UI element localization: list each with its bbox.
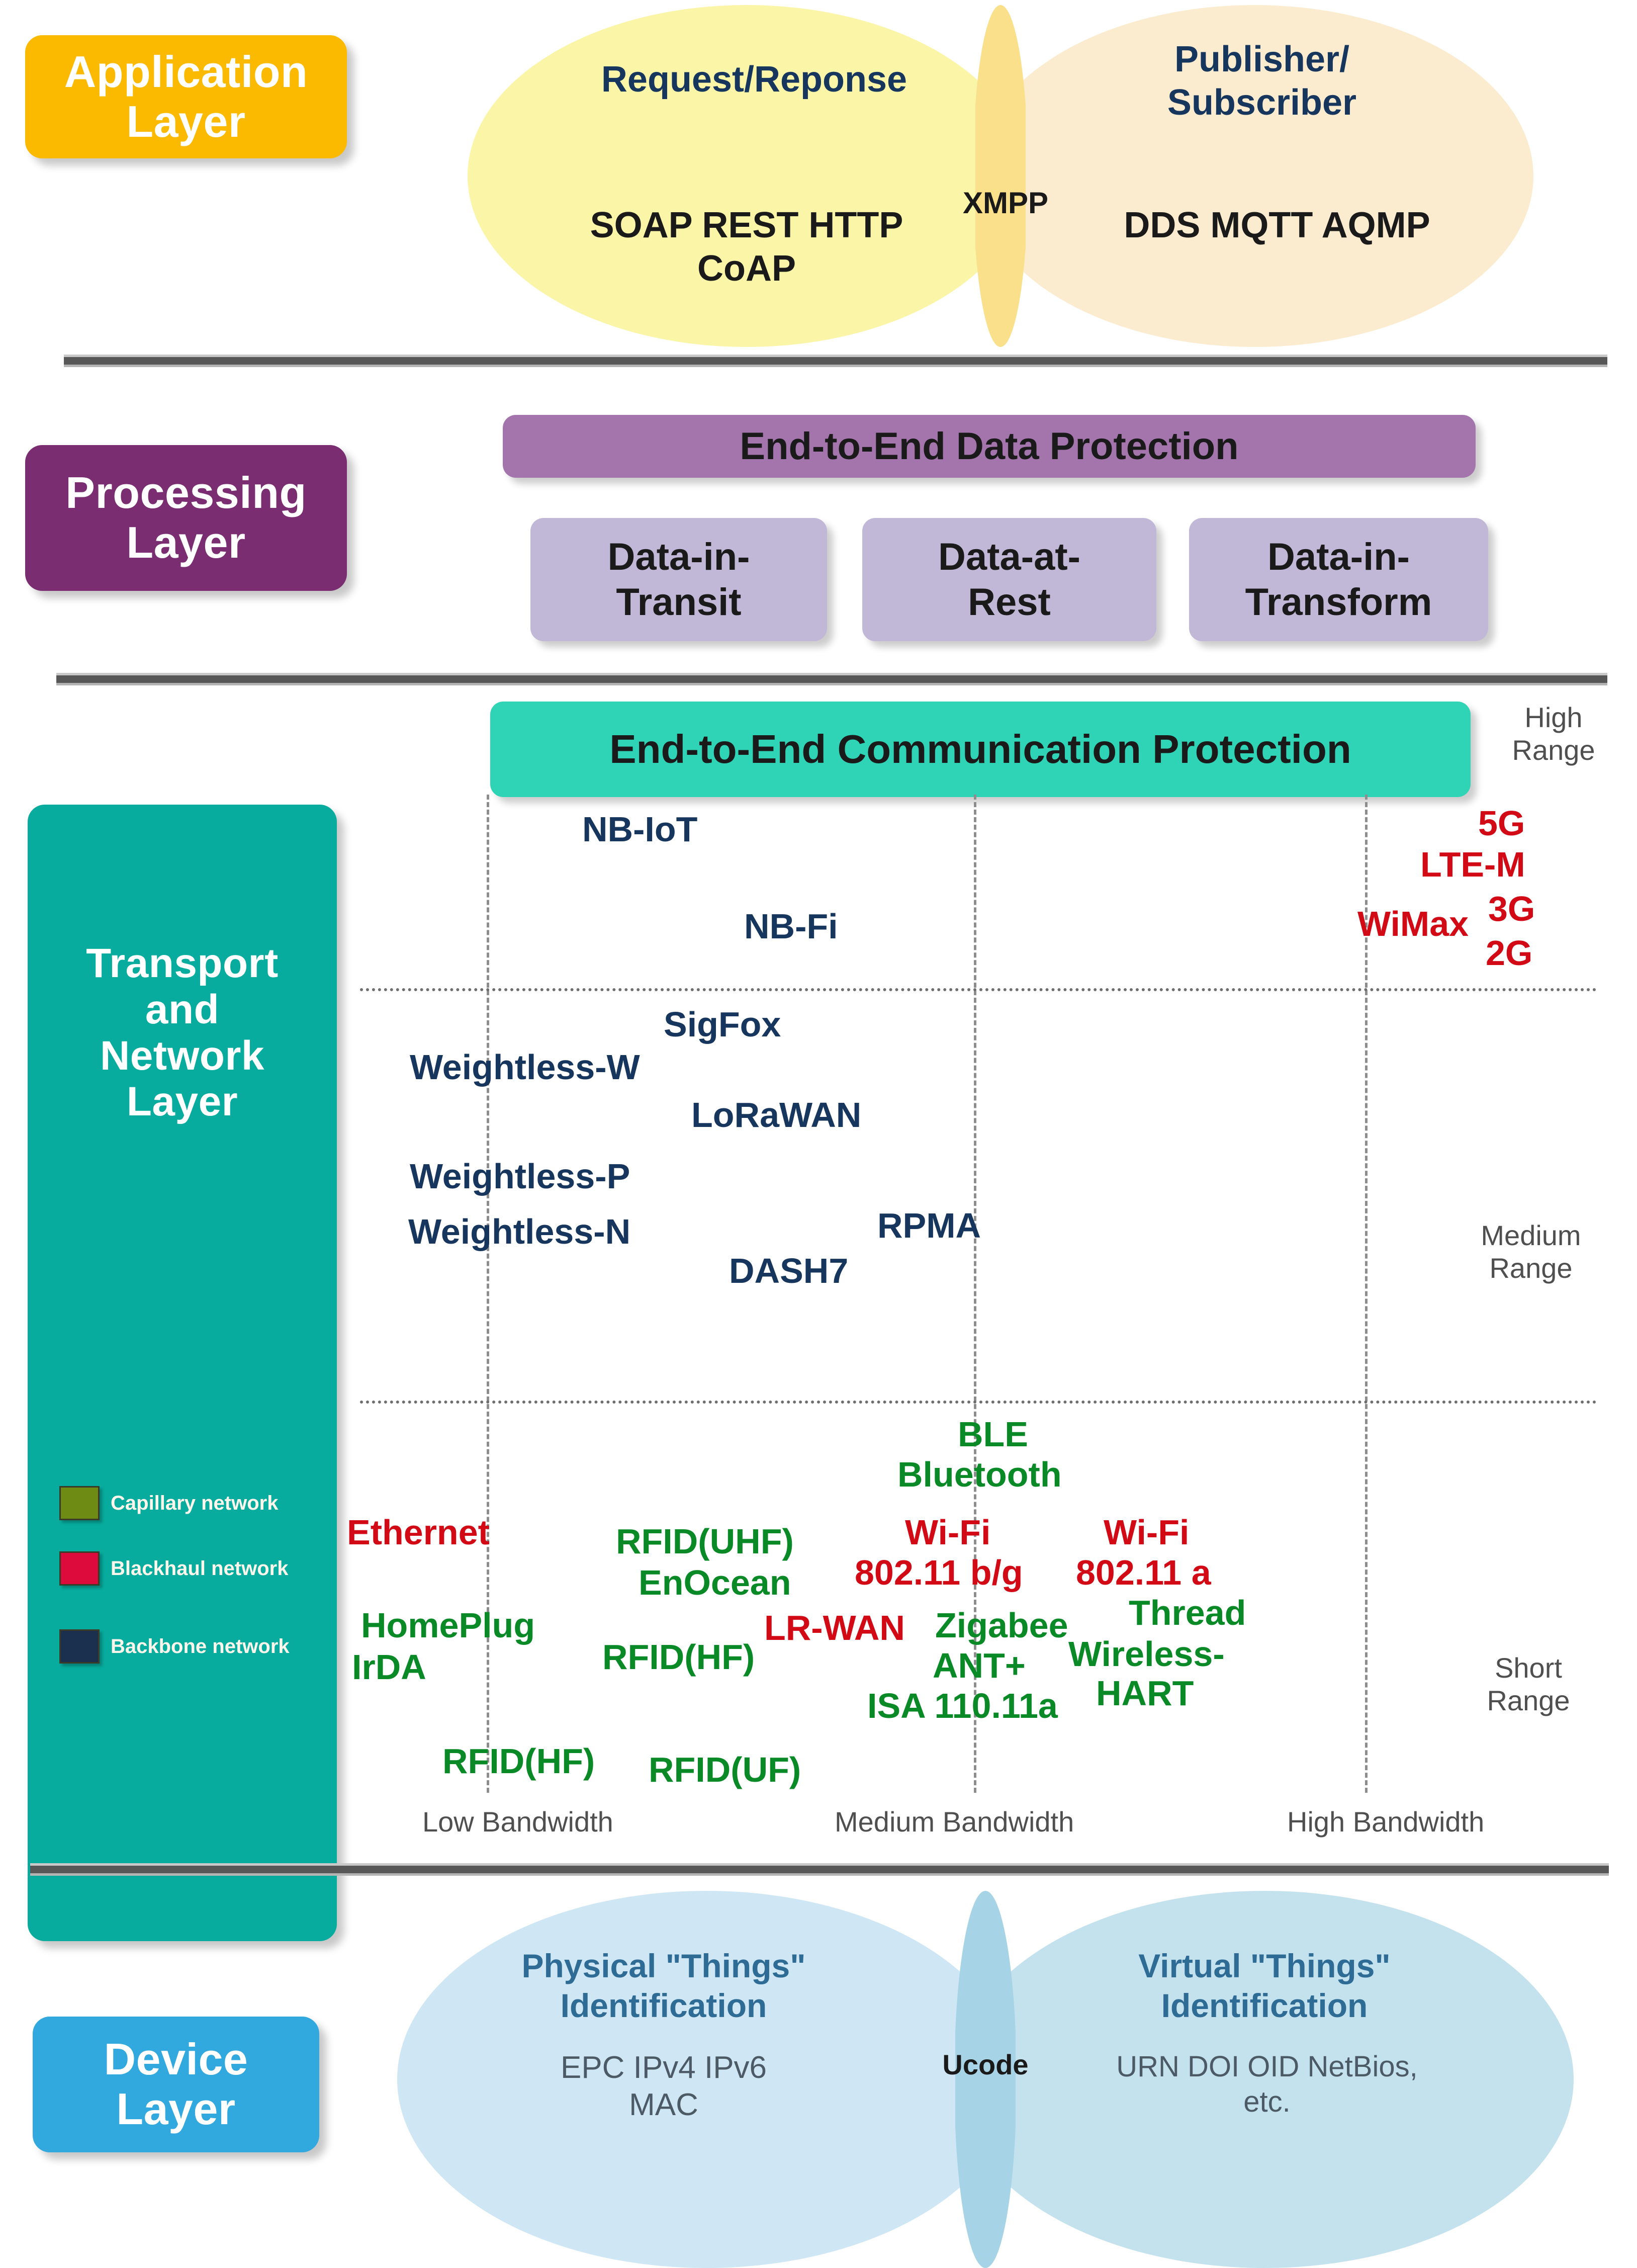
application-publisher-subscriber-items: DDS MQTT AQMP (1051, 204, 1503, 247)
application-xmpp-label: XMPP (948, 185, 1063, 221)
protocol-wifi-bg-standard: 802.11 b/g (855, 1554, 1023, 1591)
axis-label-medium-bandwidth: Medium Bandwidth (835, 1805, 1074, 1838)
application-venn-overlap-region (975, 5, 1026, 347)
application-request-response-title: Request/Reponse (528, 58, 980, 101)
protocol-irda: IrDA (352, 1648, 426, 1686)
protocol-weightless-p: Weightless-P (410, 1158, 630, 1195)
protocol-rfid-uf: RFID(UF) (649, 1751, 801, 1788)
legend-label-capillary: Capillary network (111, 1492, 278, 1515)
transport-network-layer-chip: Transport and Network Layer (28, 805, 337, 1941)
axis-label-high-bandwidth: High Bandwidth (1287, 1805, 1484, 1838)
legend-swatch-capillary (59, 1486, 100, 1520)
range-label-medium: Medium Range (1448, 1219, 1614, 1285)
separator-transport-device (30, 1863, 1609, 1876)
legend-row-capillary: Capillary network (59, 1486, 278, 1520)
legend-row-blackhaul: Blackhaul network (59, 1551, 288, 1586)
protocol-5g: 5G (1478, 805, 1525, 842)
data-in-transform-box: Data-in- Transform (1189, 518, 1488, 641)
legend-label-backbone: Backbone network (111, 1635, 290, 1658)
data-in-transit-box: Data-in- Transit (530, 518, 827, 641)
end-to-end-data-protection-banner: End-to-End Data Protection (503, 415, 1476, 478)
legend-label-blackhaul: Blackhaul network (111, 1557, 288, 1580)
end-to-end-communication-protection-banner: End-to-End Communication Protection (490, 702, 1471, 797)
iot-architecture-diagram: Application Layer Request/Reponse SOAP R… (0, 0, 1637, 2268)
protocol-homeplug: HomePlug (361, 1607, 535, 1644)
device-ucode-label: Ucode (923, 2048, 1048, 2081)
protocol-dash7: DASH7 (729, 1252, 848, 1289)
application-layer-chip: Application Layer (25, 35, 347, 158)
protocol-wimax: WiMax (1357, 905, 1469, 942)
protocol-wifi-a-standard: 802.11 a (1076, 1554, 1211, 1591)
axis-label-low-bandwidth: Low Bandwidth (422, 1805, 613, 1838)
protocol-hart: HART (1096, 1675, 1194, 1712)
protocol-lr-wan: LR-WAN (764, 1609, 905, 1646)
protocol-lte-m: LTE-M (1420, 846, 1525, 883)
protocol-3g: 3G (1488, 890, 1535, 927)
protocol-ble: BLE (958, 1416, 1028, 1453)
protocol-rpma: RPMA (877, 1207, 981, 1244)
protocol-nb-iot: NB-IoT (582, 811, 697, 848)
device-physical-things-items: EPC IPv4 IPv6 MAC (442, 2049, 885, 2124)
protocol-rfid-hf-bottom: RFID(HF) (442, 1742, 595, 1780)
protocol-ant-plus: ANT+ (933, 1647, 1026, 1684)
protocol-thread: Thread (1129, 1594, 1246, 1631)
protocol-ethernet: Ethernet (347, 1514, 490, 1551)
protocol-bluetooth: Bluetooth (897, 1456, 1062, 1493)
protocol-enocean: EnOcean (639, 1564, 791, 1601)
grid-vline-3 (1365, 795, 1368, 1793)
legend-row-backbone: Backbone network (59, 1629, 290, 1664)
device-layer-chip: Device Layer (33, 2017, 319, 2152)
data-at-rest-box: Data-at- Rest (862, 518, 1156, 641)
legend-swatch-blackhaul (59, 1551, 100, 1586)
protocol-rfid-uhf: RFID(UHF) (616, 1523, 794, 1560)
separator-application-processing (64, 355, 1607, 367)
separator-processing-transport (56, 673, 1607, 685)
protocol-nb-fi: NB-Fi (744, 908, 838, 945)
protocol-wifi-a: Wi-Fi (1104, 1514, 1189, 1551)
application-request-response-items: SOAP REST HTTP CoAP (503, 204, 990, 291)
protocol-weightless-n: Weightless-N (408, 1213, 630, 1250)
protocol-isa: ISA 110.11a (867, 1687, 1058, 1724)
application-venn-left-ellipse (468, 5, 1026, 347)
grid-hline-high-medium (360, 988, 1597, 991)
legend-swatch-backbone (59, 1629, 100, 1664)
protocol-lorawan: LoRaWAN (691, 1096, 861, 1133)
protocol-zigabee: Zigabee (935, 1607, 1068, 1644)
device-virtual-things-title: Virtual "Things" Identification (1033, 1946, 1496, 2026)
protocol-wireless-prefix: Wireless- (1068, 1635, 1225, 1673)
range-label-short: Short Range (1450, 1652, 1606, 1717)
device-virtual-things-items: URN DOI OID NetBios, etc. (1043, 2049, 1491, 2119)
application-publisher-subscriber-title: Publisher/ Subscriber (1041, 38, 1483, 125)
processing-layer-chip: Processing Layer (25, 445, 347, 591)
protocol-2g: 2G (1486, 934, 1532, 972)
grid-hline-medium-short (360, 1401, 1597, 1404)
range-label-high: High Range (1476, 702, 1631, 767)
protocol-weightless-w: Weightless-W (410, 1049, 640, 1086)
protocol-sigfox: SigFox (664, 1006, 781, 1043)
device-physical-things-title: Physical "Things" Identification (430, 1946, 897, 2026)
protocol-wifi-bg: Wi-Fi (905, 1514, 990, 1551)
protocol-rfid-hf-mid: RFID(HF) (602, 1638, 755, 1676)
